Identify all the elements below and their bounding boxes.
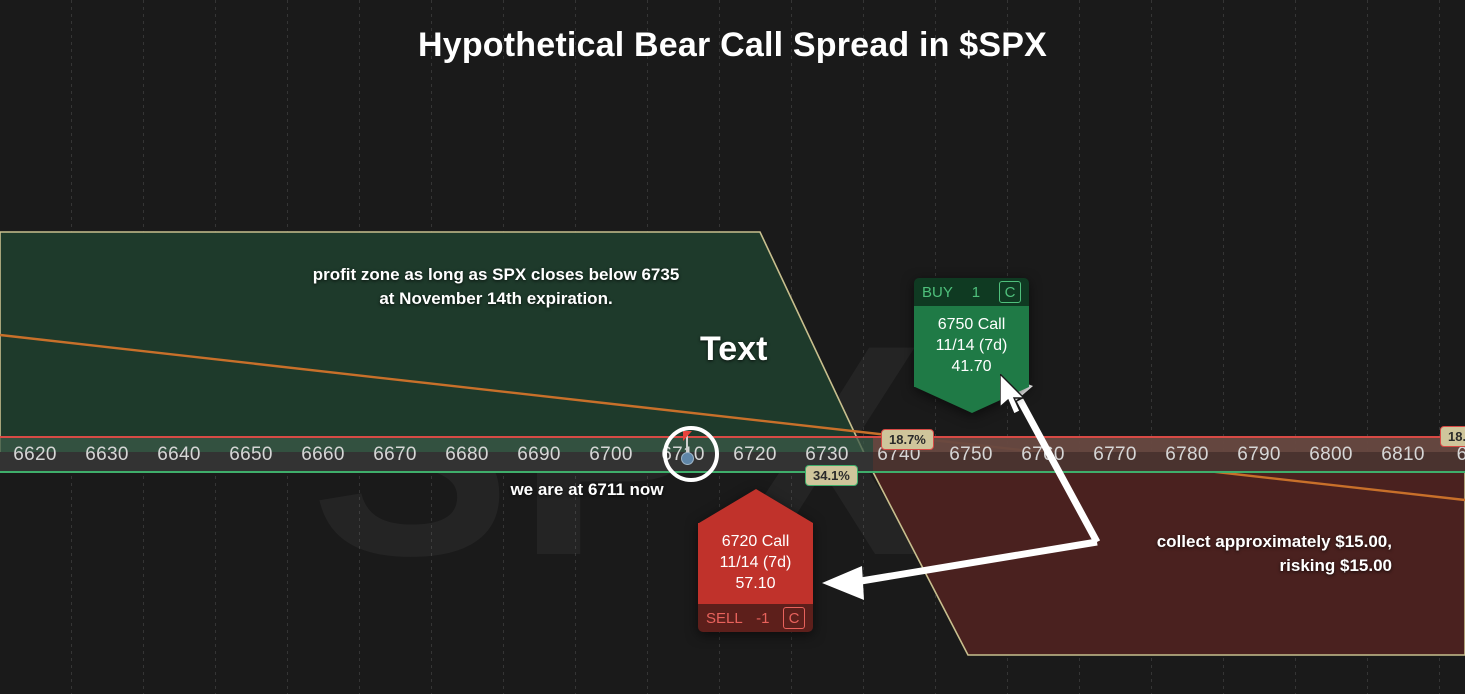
buy-contract: 6750 Call	[920, 314, 1023, 335]
option-card-sell[interactable]: 6720 Call 11/14 (7d) 57.10 SELL -1 C	[698, 489, 813, 632]
mouse-cursor-icon	[1000, 374, 1034, 420]
sell-contract: 6720 Call	[704, 531, 807, 552]
sell-expiry: 11/14 (7d)	[704, 552, 807, 573]
sell-card-pointer	[699, 489, 813, 523]
sell-action-label: SELL	[706, 610, 743, 627]
arrow-line-to-sell	[855, 542, 1097, 582]
sell-price: 57.10	[704, 573, 807, 594]
buy-action-label: BUY	[922, 284, 953, 301]
buy-quantity: 1	[972, 284, 980, 301]
arrow-line-to-buy	[1020, 400, 1097, 542]
buy-expiry: 11/14 (7d)	[920, 335, 1023, 356]
chart-canvas: SPX 662066306640665066606670668066906700…	[0, 0, 1465, 694]
sell-card-footer: SELL -1 C	[698, 604, 813, 632]
buy-call-chip: C	[999, 281, 1021, 303]
arrow-head-to-sell	[822, 566, 864, 600]
buy-card-header: BUY 1 C	[914, 278, 1029, 306]
sell-call-chip: C	[783, 607, 805, 629]
sell-quantity: -1	[756, 610, 769, 627]
price-marker-highlight-circle	[663, 426, 719, 482]
sell-card-body: 6720 Call 11/14 (7d) 57.10	[698, 523, 813, 604]
